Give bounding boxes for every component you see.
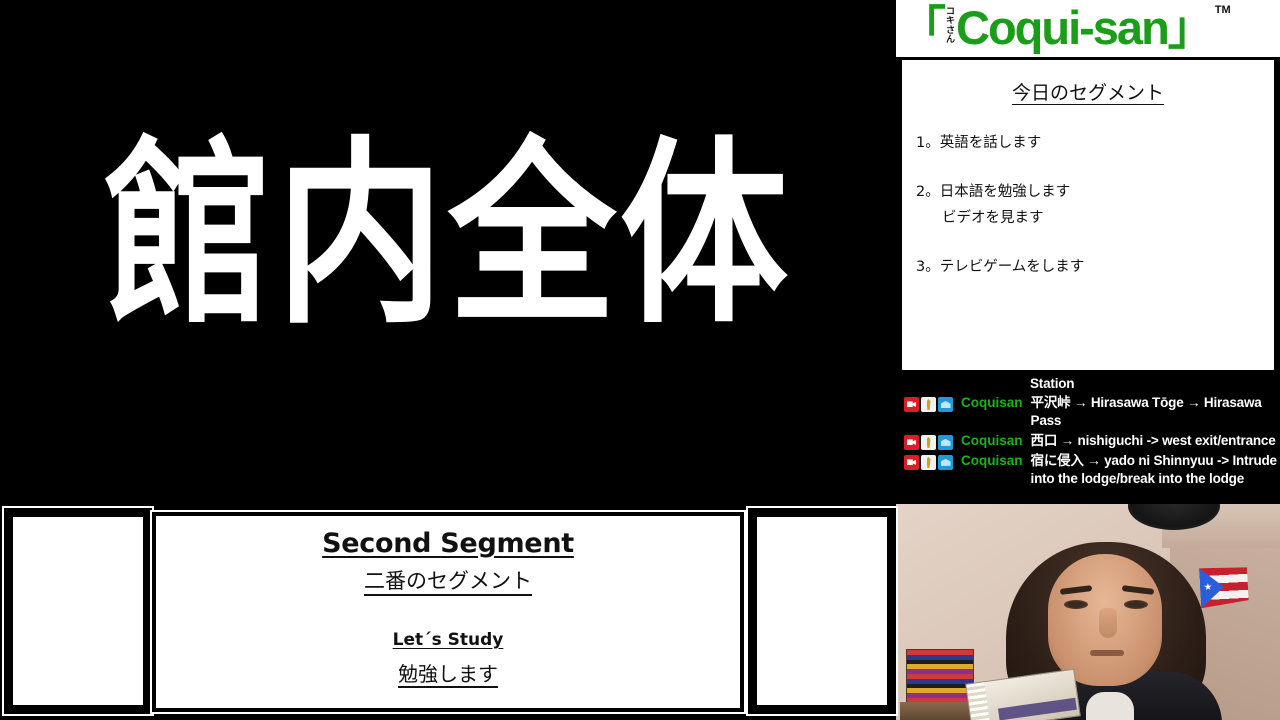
segment-number: 3。 xyxy=(916,259,940,275)
chat-badges xyxy=(904,432,953,450)
right-column: 「 コ キ さ ん Coqui-san 」 TM 今日のセグメント 1。英語を話… xyxy=(896,0,1280,720)
moderator-badge-icon xyxy=(921,435,936,450)
banner-title-japanese: 二番のセグメント xyxy=(364,565,532,595)
chat-message-text: 平沢峠 → Hirasawa Tōge → Hirasawa Pass xyxy=(1023,394,1278,430)
flag-triangle xyxy=(1199,567,1225,608)
left-placeholder-box[interactable] xyxy=(4,508,152,714)
mouth xyxy=(1090,650,1124,656)
right-placeholder-box[interactable] xyxy=(748,508,896,714)
main-video-capture[interactable]: 館内全体 xyxy=(0,0,896,505)
book-pages xyxy=(966,682,991,720)
broadcaster-badge-icon xyxy=(904,397,919,412)
banner-subtitle-japanese: 勉強します xyxy=(398,658,498,687)
book-cover-band xyxy=(998,698,1077,720)
eye-left xyxy=(1064,600,1088,609)
chat-message-text: 西口 → nishiguchi -> west exit/entrance xyxy=(1023,432,1276,450)
segment-item: 2。日本語を勉強します ビデオを見ます xyxy=(916,181,1260,229)
banner-title-english: Second Segment xyxy=(322,528,574,559)
chat-message: Coquisan 西口 → nishiguchi -> west exit/en… xyxy=(896,431,1280,451)
stream-layout: 館内全体 「 コ キ さ ん Coqui-san 」 TM 今日のセグメント 1… xyxy=(0,0,1280,720)
chat-badges xyxy=(904,394,953,412)
chat-message-text: 宿に侵入 → yado ni Shinnyuu -> Intrude into … xyxy=(1023,452,1278,488)
streamer-webcam[interactable] xyxy=(896,504,1280,720)
furigana-char-4: ん xyxy=(946,36,955,45)
chat-username[interactable]: Coquisan xyxy=(953,432,1023,448)
logo-wordmark: Coqui-san xyxy=(956,6,1168,51)
eye-right xyxy=(1124,600,1148,609)
chat-username[interactable]: Coquisan xyxy=(953,452,1023,468)
segment-text: テレビゲームをします xyxy=(940,259,1085,275)
segment-item: 3。テレビゲームをします xyxy=(916,256,1260,278)
moderator-badge-icon xyxy=(921,455,936,470)
segment-line: 1。英語を話します xyxy=(916,132,1260,154)
segment-number: 2。 xyxy=(916,184,940,200)
banner-subtitle-english: Let´s Study xyxy=(393,630,504,650)
subscriber-badge-icon xyxy=(938,455,953,470)
chat-overflow-text: Station xyxy=(896,375,1280,393)
bracket-close-icon: 」 xyxy=(1168,10,1214,47)
segment-number: 1。 xyxy=(916,135,940,151)
segment-line: 3。テレビゲームをします xyxy=(916,256,1260,278)
segment-banner: Second Segment 二番のセグメント Let´s Study 勉強しま… xyxy=(152,512,744,712)
segment-text: 日本語を勉強します xyxy=(940,184,1071,200)
main-capture-overlay-text: 館内全体 xyxy=(104,135,792,333)
logo-furigana: コ キ さ ん xyxy=(946,8,955,45)
chat-overlay[interactable]: Station Coquisan 平沢峠 → Hirasawa Tōge → H… xyxy=(896,373,1280,500)
segment-subline: ビデオを見ます xyxy=(916,207,1260,229)
segment-board-title: 今日のセグメント xyxy=(916,78,1260,105)
streamer-undershirt xyxy=(1086,692,1134,720)
subscriber-badge-icon xyxy=(938,435,953,450)
segment-item: 1。英語を話します xyxy=(916,132,1260,154)
bracket-open-icon: 「 xyxy=(900,10,946,47)
subscriber-badge-icon xyxy=(938,397,953,412)
segment-line: 2。日本語を勉強します xyxy=(916,181,1260,203)
chat-username[interactable]: Coquisan xyxy=(953,394,1023,410)
trademark-mark: TM xyxy=(1215,4,1231,16)
today-segment-board: 今日のセグメント 1。英語を話します 2。日本語を勉強します ビデオを見ます 3… xyxy=(900,58,1276,372)
chat-message: Coquisan 平沢峠 → Hirasawa Tōge → Hirasawa … xyxy=(896,393,1280,431)
broadcaster-badge-icon xyxy=(904,455,919,470)
channel-logo[interactable]: 「 コ キ さ ん Coqui-san 」 TM xyxy=(896,0,1280,57)
chat-badges xyxy=(904,452,953,470)
bottom-strip: Second Segment 二番のセグメント Let´s Study 勉強しま… xyxy=(0,504,896,720)
moderator-badge-icon xyxy=(921,397,936,412)
segment-text: 英語を話します xyxy=(940,135,1042,151)
broadcaster-badge-icon xyxy=(904,435,919,450)
chat-message: Coquisan 宿に侵入 → yado ni Shinnyuu -> Intr… xyxy=(896,451,1280,489)
nose xyxy=(1099,608,1117,638)
